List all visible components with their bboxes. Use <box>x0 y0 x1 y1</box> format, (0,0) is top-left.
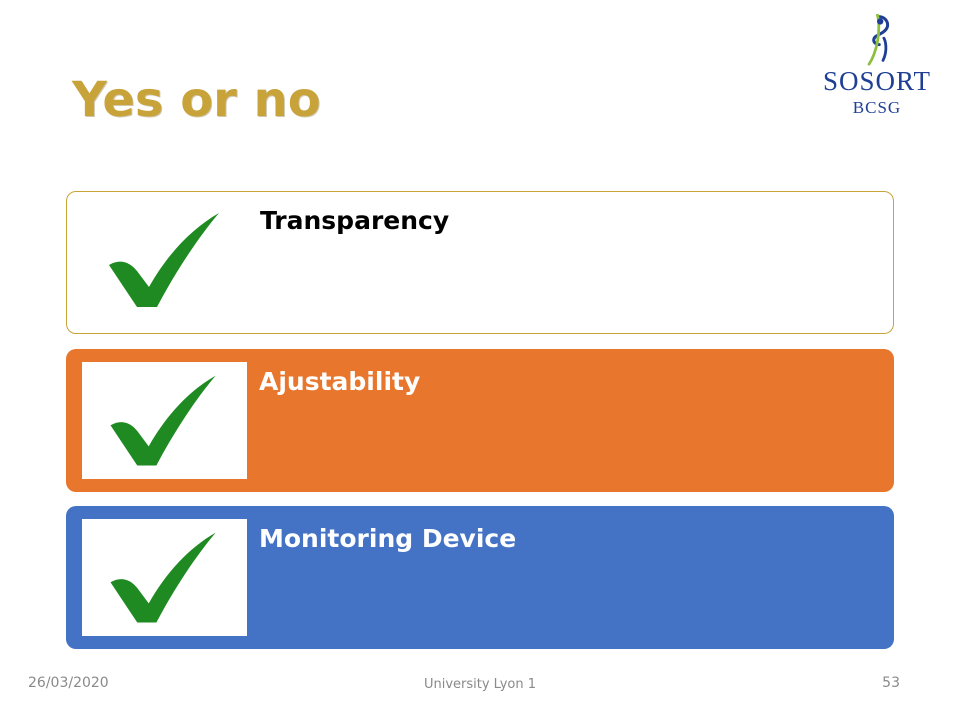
check-icon-container <box>82 362 247 479</box>
slide-footer: 26/03/2020 University Lyon 1 53 <box>0 675 960 699</box>
footer-institution: University Lyon 1 <box>0 677 960 692</box>
slide-canvas: SOSORT BCSG Yes or no Transparency Ajust… <box>0 0 960 720</box>
list-item: Monitoring Device <box>66 506 894 649</box>
sosort-bcsg-logo: SOSORT BCSG <box>812 14 942 132</box>
list-item-label: Transparency <box>260 206 449 235</box>
green-check-icon <box>91 203 241 318</box>
logo-title: SOSORT <box>812 68 942 95</box>
list-item: Ajustability <box>66 349 894 492</box>
list-item-label: Monitoring Device <box>259 524 516 553</box>
logo-subtitle: BCSG <box>812 99 942 116</box>
list-item-label: Ajustability <box>259 367 420 396</box>
page-title: Yes or no <box>72 72 321 128</box>
check-icon-container <box>83 202 248 319</box>
check-icon-container <box>82 519 247 636</box>
green-check-icon <box>90 366 240 476</box>
green-check-icon <box>90 523 240 633</box>
footer-page-number: 53 <box>882 675 900 691</box>
list-item: Transparency <box>66 191 894 334</box>
sosort-emblem-icon <box>831 14 924 66</box>
